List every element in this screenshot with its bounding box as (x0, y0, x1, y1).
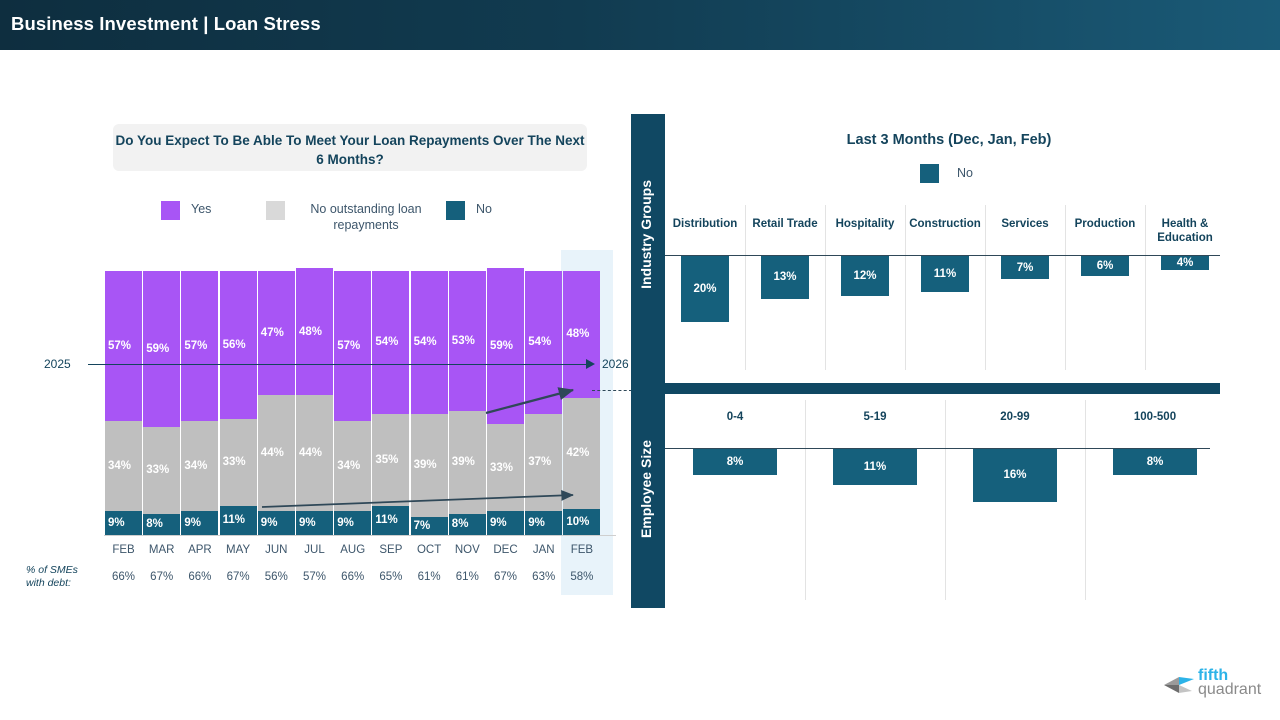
value-bar[interactable]: 8% (1113, 449, 1197, 475)
segment-no: 9% (296, 511, 333, 535)
segment-no: 9% (105, 511, 142, 535)
panel-connector-dashed-line (592, 390, 632, 391)
segment-no-outstanding: 37% (525, 414, 562, 512)
employee-size-chart: 0-48%5-1911%20-9916%100-5008% (665, 400, 1280, 600)
segment-value-label: 48% (566, 328, 589, 340)
segment-yes: 57% (334, 271, 371, 421)
segment-no: 7% (411, 517, 448, 535)
segment-value-label: 34% (108, 460, 131, 472)
segment-value-label: 9% (299, 517, 316, 529)
bar-column[interactable]: 48%44%9% (296, 268, 333, 535)
segment-value-label: 9% (261, 517, 278, 529)
legend-item-yes[interactable]: Yes (161, 201, 211, 220)
segment-value-label: 34% (184, 460, 207, 472)
segment-yes: 48% (563, 271, 600, 398)
segment-value-label: 48% (299, 326, 322, 338)
legend-item-no[interactable]: No (446, 201, 492, 220)
segment-no: 11% (220, 506, 257, 535)
segment-value-label: 56% (223, 339, 246, 351)
left-chart-legend: Yes No outstanding loan repayments No (113, 200, 587, 238)
x-axis-label: MAR (143, 544, 180, 556)
bar-value-label: 4% (1161, 257, 1209, 269)
segment-value-label: 44% (299, 447, 322, 459)
sme-debt-value: 67% (487, 571, 524, 583)
column-header: 20-99 (945, 410, 1085, 424)
bar-value-label: 8% (1113, 456, 1197, 468)
value-bar[interactable]: 8% (693, 449, 777, 475)
segment-yes: 53% (449, 271, 486, 411)
bar-value-label: 7% (1001, 262, 1049, 274)
segment-no-outstanding: 39% (411, 414, 448, 517)
segment-value-label: 59% (146, 343, 169, 355)
x-axis-label: FEB (105, 544, 142, 556)
value-bar[interactable]: 13% (761, 256, 809, 299)
bar-value-label: 16% (973, 469, 1057, 481)
segment-no: 9% (487, 511, 524, 535)
bar-column[interactable]: 57%34%9% (181, 271, 218, 535)
segment-yes: 47% (258, 271, 295, 395)
segment-no-outstanding: 44% (258, 395, 295, 511)
segment-yes: 56% (220, 271, 257, 419)
bar-column[interactable]: 47%44%9% (258, 271, 295, 535)
segment-value-label: 34% (337, 460, 360, 472)
sme-debt-value: 58% (563, 571, 600, 583)
sme-debt-value: 66% (181, 571, 218, 583)
legend-label-yes: Yes (191, 201, 211, 217)
segment-value-label: 10% (566, 516, 589, 528)
bar-value-label: 11% (921, 268, 969, 280)
x-axis-label: DEC (487, 544, 524, 556)
logo-text-quadrant: quadrant (1198, 681, 1261, 699)
segment-value-label: 57% (108, 340, 131, 352)
sme-debt-value: 66% (105, 571, 142, 583)
column-header: 0-4 (665, 410, 805, 424)
segment-value-label: 54% (528, 336, 551, 348)
value-bar[interactable]: 7% (1001, 256, 1049, 279)
bar-value-label: 6% (1081, 260, 1129, 272)
timeline-start-year: 2025 (44, 357, 71, 371)
segment-no-outstanding: 33% (143, 427, 180, 514)
segment-value-label: 8% (146, 518, 163, 530)
bar-column[interactable]: 57%34%9% (105, 271, 142, 535)
column-divider (805, 400, 806, 600)
x-axis-label: SEP (372, 544, 409, 556)
segment-value-label: 33% (223, 456, 246, 468)
segment-value-label: 39% (452, 456, 475, 468)
section-divider-rule (665, 383, 1220, 394)
segment-yes: 59% (487, 268, 524, 424)
segment-value-label: 8% (452, 518, 469, 530)
segment-value-label: 9% (184, 517, 201, 529)
segment-yes: 48% (296, 268, 333, 395)
sidebar-label-employee-size: Employee Size (638, 440, 654, 538)
segment-value-label: 9% (490, 517, 507, 529)
segment-no-outstanding: 42% (563, 398, 600, 509)
sme-debt-value: 56% (258, 571, 295, 583)
column-divider (945, 400, 946, 600)
segment-value-label: 47% (261, 327, 284, 339)
segment-value-label: 9% (108, 517, 125, 529)
x-axis-label: AUG (334, 544, 371, 556)
segment-no-outstanding: 33% (487, 424, 524, 511)
segment-no: 8% (143, 514, 180, 535)
sme-debt-value: 67% (220, 571, 257, 583)
x-axis-label: MAY (220, 544, 257, 556)
column-header: Distribution (665, 217, 745, 231)
x-axis-label: JUL (296, 544, 333, 556)
column-header: Health & Education (1145, 217, 1225, 245)
x-axis-label: FEB (563, 544, 600, 556)
segment-value-label: 11% (223, 514, 245, 526)
segment-no-outstanding: 33% (220, 419, 257, 506)
column-divider (1085, 400, 1086, 600)
app-header: Business Investment | Loan Stress (0, 0, 1280, 50)
sme-debt-value: 63% (525, 571, 562, 583)
sme-debt-row-label: % of SMEs with debt: (26, 564, 88, 590)
bar-column[interactable]: 53%39%8% (449, 271, 486, 535)
segment-value-label: 33% (146, 464, 169, 476)
segment-no: 9% (181, 511, 218, 535)
segment-no: 10% (563, 509, 600, 535)
segment-no: 11% (372, 506, 409, 535)
value-bar[interactable]: 6% (1081, 256, 1129, 276)
segment-yes: 54% (411, 271, 448, 414)
bar-column[interactable]: 54%37%9% (525, 271, 562, 535)
bar-column[interactable]: 54%35%11% (372, 271, 409, 535)
chart-baseline (104, 535, 616, 536)
segment-value-label: 7% (414, 520, 431, 532)
bar-value-label: 8% (693, 456, 777, 468)
segment-value-label: 44% (261, 447, 284, 459)
segment-value-label: 57% (184, 340, 207, 352)
right-chart-legend: No (665, 164, 1233, 184)
segment-no-outstanding: 34% (105, 421, 142, 511)
segment-no-outstanding: 34% (334, 421, 371, 511)
column-header: Hospitality (825, 217, 905, 231)
bar-value-label: 12% (841, 270, 889, 282)
segment-no-outstanding: 34% (181, 421, 218, 511)
legend-swatch-no (446, 201, 465, 220)
bar-column[interactable]: 59%33%9% (487, 268, 524, 535)
segment-value-label: 39% (414, 459, 437, 471)
value-bar[interactable]: 4% (1161, 256, 1209, 270)
x-axis-label: OCT (411, 544, 448, 556)
sme-debt-value: 67% (143, 571, 180, 583)
column-header: 5-19 (805, 410, 945, 424)
timeline-arrowhead-icon (586, 359, 595, 369)
segment-value-label: 9% (528, 517, 545, 529)
x-axis-label: JUN (258, 544, 295, 556)
segment-value-label: 37% (528, 456, 551, 468)
bar-value-label: 11% (833, 461, 917, 473)
bar-column[interactable]: 57%34%9% (334, 271, 371, 535)
segment-value-label: 54% (375, 336, 398, 348)
sme-debt-value: 61% (411, 571, 448, 583)
bar-column[interactable]: 59%33%8% (143, 271, 180, 535)
segment-yes: 59% (143, 271, 180, 427)
segment-value-label: 35% (375, 454, 398, 466)
segment-no-outstanding: 35% (372, 414, 409, 506)
value-bar[interactable]: 16% (973, 449, 1057, 502)
segment-value-label: 33% (490, 462, 513, 474)
value-bar[interactable]: 11% (921, 256, 969, 292)
segment-yes: 57% (181, 271, 218, 421)
segment-no: 9% (334, 511, 371, 535)
segment-value-label: 11% (375, 514, 397, 526)
segment-yes: 54% (372, 271, 409, 414)
timeline-axis: 2025 2026 (44, 355, 624, 375)
legend-swatch-no-outstanding (266, 201, 285, 220)
legend-label-no-outstanding: No outstanding loan repayments (296, 201, 436, 233)
segment-yes: 57% (105, 271, 142, 421)
quadrant-pinwheel-icon (1162, 668, 1196, 702)
column-header: Construction (905, 217, 985, 231)
column-header: Production (1065, 217, 1145, 231)
bar-value-label: 20% (681, 283, 729, 295)
segment-no-outstanding: 39% (449, 411, 486, 514)
x-axis-label: NOV (449, 544, 486, 556)
timeline-line (88, 364, 588, 365)
page-title: Business Investment | Loan Stress (11, 13, 321, 35)
bar-value-label: 13% (761, 271, 809, 283)
column-header: Services (985, 217, 1065, 231)
segment-no: 9% (525, 511, 562, 535)
value-bar[interactable]: 20% (681, 256, 729, 322)
segment-yes: 54% (525, 271, 562, 414)
segment-value-label: 9% (337, 517, 354, 529)
bar-column[interactable]: 56%33%11% (220, 271, 257, 535)
value-bar[interactable]: 11% (833, 449, 917, 485)
timeline-end-year: 2026 (602, 357, 629, 371)
segment-no: 9% (258, 511, 295, 535)
value-bar[interactable]: 12% (841, 256, 889, 296)
segment-value-label: 57% (337, 340, 360, 352)
legend-label-no-right: No (957, 166, 973, 180)
right-chart-title: Last 3 Months (Dec, Jan, Feb) (665, 132, 1233, 148)
left-chart-title: Do You Expect To Be Able To Meet Your Lo… (113, 131, 587, 169)
segment-value-label: 53% (452, 335, 475, 347)
column-header: 100-500 (1085, 410, 1225, 424)
legend-item-no-outstanding[interactable]: No outstanding loan repayments (266, 201, 436, 233)
segment-no: 8% (449, 514, 486, 535)
industry-groups-chart: Distribution20%Retail Trade13%Hospitalit… (665, 205, 1280, 370)
sme-debt-value: 57% (296, 571, 333, 583)
x-axis-label: APR (181, 544, 218, 556)
sme-debt-value: 65% (372, 571, 409, 583)
sidebar-label-industry-groups: Industry Groups (638, 180, 654, 289)
legend-swatch-no-right (920, 164, 939, 183)
sme-debt-value: 66% (334, 571, 371, 583)
brand-logo: fifth quadrant (1162, 668, 1272, 708)
column-header: Retail Trade (745, 217, 825, 231)
segment-value-label: 54% (414, 336, 437, 348)
segment-value-label: 59% (490, 340, 513, 352)
segment-value-label: 42% (566, 447, 589, 459)
left-chart-title-box: Do You Expect To Be Able To Meet Your Lo… (113, 124, 587, 171)
stacked-bar-chart: 57%34%9%59%33%8%57%34%9%56%33%11%47%44%9… (22, 250, 622, 595)
sme-debt-value: 61% (449, 571, 486, 583)
x-axis-label: JAN (525, 544, 562, 556)
bar-column[interactable]: 54%39%7% (411, 271, 448, 535)
legend-label-no: No (476, 201, 492, 217)
bar-column[interactable]: 48%42%10% (563, 271, 600, 535)
segment-no-outstanding: 44% (296, 395, 333, 511)
legend-swatch-yes (161, 201, 180, 220)
